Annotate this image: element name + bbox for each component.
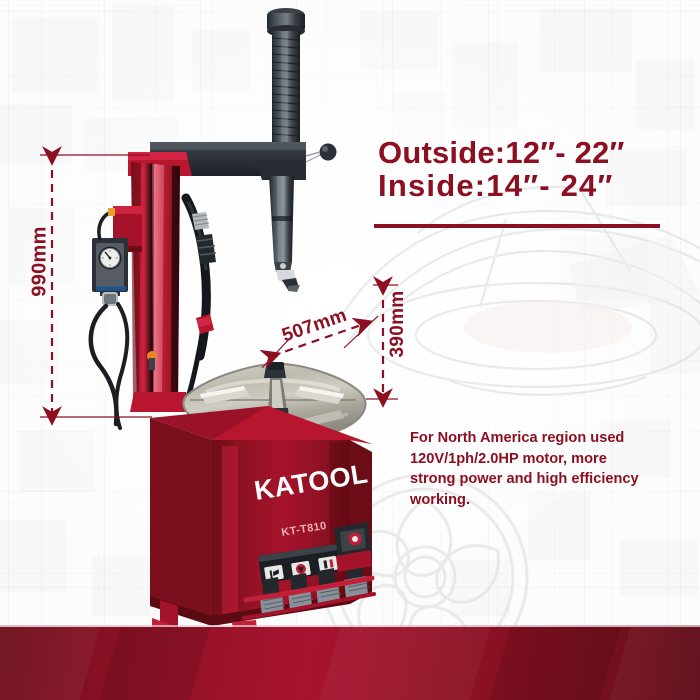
- description-line-4: working.: [410, 490, 658, 511]
- headline-line-inside: Inside:14″- 24″: [378, 169, 678, 202]
- product-image-canvas: KATOOL KT-T810: [0, 0, 700, 700]
- pressure-gauge-unit: [91, 208, 128, 428]
- description-line-2: 120V/1ph/2.0HP motor, more: [410, 449, 658, 470]
- control-box: [334, 522, 372, 572]
- bead-breaker-arm: [186, 198, 216, 404]
- headline-line-outside: Outside:12″- 22″: [378, 136, 678, 169]
- description-paragraph: For North America region used 120V/1ph/2…: [410, 428, 658, 511]
- tire-changer-machine: KATOOL KT-T810: [0, 0, 700, 700]
- mount-demount-head: [269, 176, 300, 292]
- headline-specs: Outside:12″- 22″ Inside:14″- 24″: [378, 136, 678, 203]
- vertical-threaded-column: [267, 8, 305, 149]
- headline-underline-rule: [374, 224, 660, 228]
- description-line-1: For North America region used: [410, 428, 658, 449]
- description-line-3: strong power and high efficiency: [410, 469, 658, 490]
- footer-band: [0, 627, 700, 700]
- main-cabinet: KATOOL KT-T810: [150, 406, 372, 644]
